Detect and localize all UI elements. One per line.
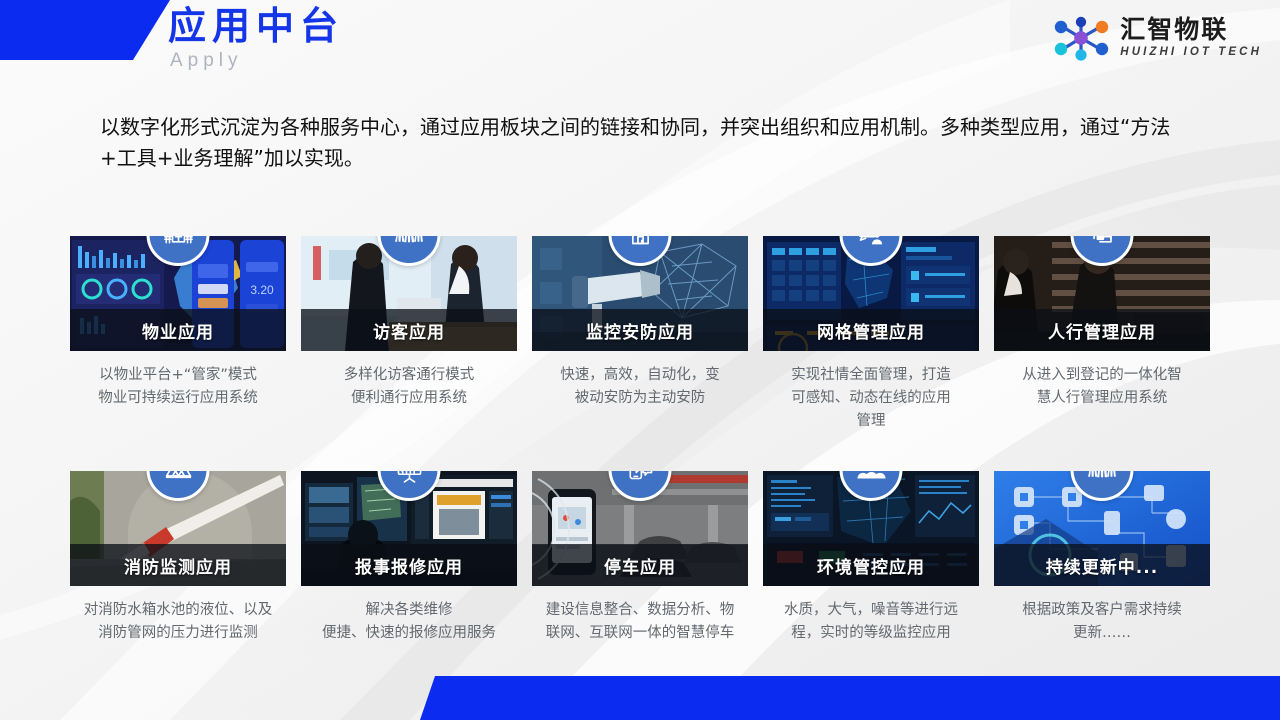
- card-figure: 持续更新中...: [994, 471, 1210, 586]
- application-card[interactable]: 网格管理应用实现社情全面管理，打造可感知、动态在线的应用管理: [763, 236, 979, 433]
- card-title-band: 访客应用: [301, 309, 517, 351]
- card-title-band: 报事报修应用: [301, 544, 517, 586]
- card-caption: 对消防水箱水池的液位、以及消防管网的压力进行监测: [70, 599, 286, 645]
- card-title-band: 监控安防应用: [532, 309, 748, 351]
- card-figure: 人行管理应用: [994, 236, 1210, 351]
- card-figure: 消防监测应用: [70, 471, 286, 586]
- svg-text:3.20: 3.20: [250, 283, 274, 297]
- card-title: 物业应用: [142, 318, 214, 343]
- card-figure: 3.20物业应用: [70, 236, 286, 351]
- card-title-band: 消防监测应用: [70, 544, 286, 586]
- application-card[interactable]: 消防监测应用对消防水箱水池的液位、以及消防管网的压力进行监测: [70, 471, 286, 645]
- intro-paragraph: 以数字化形式沉淀为各种服务中心，通过应用板块之间的链接和协同，并突出组织和应用机…: [100, 112, 1185, 174]
- page-subtitle: Apply: [170, 50, 243, 72]
- card-figure: 网格管理应用: [763, 236, 979, 351]
- card-figure: 环境管控应用: [763, 471, 979, 586]
- logo-chinese-name: 汇智物联: [1120, 16, 1262, 44]
- logo-english-name: HUIZHI IOT TECH: [1120, 44, 1262, 60]
- card-caption: 多样化访客通行模式便利通行应用系统: [301, 364, 517, 410]
- card-row-2: 消防监测应用对消防水箱水池的液位、以及消防管网的压力进行监测报事报修应用解决各类…: [70, 471, 1215, 645]
- application-card[interactable]: 停车应用建设信息整合、数据分析、物联网、互联网一体的智慧停车: [532, 471, 748, 645]
- card-title-band: 停车应用: [532, 544, 748, 586]
- application-card-grid: 3.20物业应用以物业平台+“管家”模式物业可持续运行应用系统访客应用多样化访客…: [70, 236, 1215, 645]
- card-figure: 监控安防应用: [532, 236, 748, 351]
- card-caption: 水质，大气，噪音等进行远程，实时的等级监控应用: [763, 599, 979, 645]
- card-row-1: 3.20物业应用以物业平台+“管家”模式物业可持续运行应用系统访客应用多样化访客…: [70, 236, 1215, 433]
- card-title: 消防监测应用: [124, 553, 232, 578]
- card-title-band: 持续更新中...: [994, 544, 1210, 586]
- card-title: 环境管控应用: [817, 553, 925, 578]
- application-card[interactable]: 环境管控应用水质，大气，噪音等进行远程，实时的等级监控应用: [763, 471, 979, 645]
- card-title: 人行管理应用: [1048, 318, 1156, 343]
- card-title: 持续更新中...: [1046, 553, 1158, 578]
- card-title: 监控安防应用: [586, 318, 694, 343]
- application-card[interactable]: 持续更新中...根据政策及客户需求持续更新……: [994, 471, 1210, 645]
- card-figure: 访客应用: [301, 236, 517, 351]
- card-title: 网格管理应用: [817, 318, 925, 343]
- application-card[interactable]: 人行管理应用从进入到登记的一体化智慧人行管理应用系统: [994, 236, 1210, 433]
- card-caption: 根据政策及客户需求持续更新……: [994, 599, 1210, 645]
- card-title: 访客应用: [373, 318, 445, 343]
- header-corner-shape: [0, 0, 170, 60]
- card-caption: 快速，高效，自动化，变被动安防为主动安防: [532, 364, 748, 410]
- card-caption: 以物业平台+“管家”模式物业可持续运行应用系统: [70, 364, 286, 410]
- application-card[interactable]: 监控安防应用快速，高效，自动化，变被动安防为主动安防: [532, 236, 748, 433]
- card-title-band: 人行管理应用: [994, 309, 1210, 351]
- card-figure: 停车应用: [532, 471, 748, 586]
- molecule-network-logo-icon: [1051, 14, 1113, 62]
- card-caption: 解决各类维修便捷、快速的报修应用服务: [301, 599, 517, 645]
- application-card[interactable]: 报事报修应用解决各类维修便捷、快速的报修应用服务: [301, 471, 517, 645]
- card-title: 停车应用: [604, 553, 676, 578]
- footer-bar-shape: [0, 676, 1280, 720]
- card-figure: 报事报修应用: [301, 471, 517, 586]
- card-title-band: 网格管理应用: [763, 309, 979, 351]
- card-title: 报事报修应用: [355, 553, 463, 578]
- page-title: 应用中台: [168, 4, 344, 48]
- card-caption: 建设信息整合、数据分析、物联网、互联网一体的智慧停车: [532, 599, 748, 645]
- application-card[interactable]: 访客应用多样化访客通行模式便利通行应用系统: [301, 236, 517, 433]
- card-title-band: 物业应用: [70, 309, 286, 351]
- card-caption: 实现社情全面管理，打造可感知、动态在线的应用管理: [763, 364, 979, 433]
- brand-logo: 汇智物联 HUIZHI IOT TECH: [1051, 14, 1262, 62]
- card-caption: 从进入到登记的一体化智慧人行管理应用系统: [994, 364, 1210, 410]
- application-card[interactable]: 3.20物业应用以物业平台+“管家”模式物业可持续运行应用系统: [70, 236, 286, 433]
- card-title-band: 环境管控应用: [763, 544, 979, 586]
